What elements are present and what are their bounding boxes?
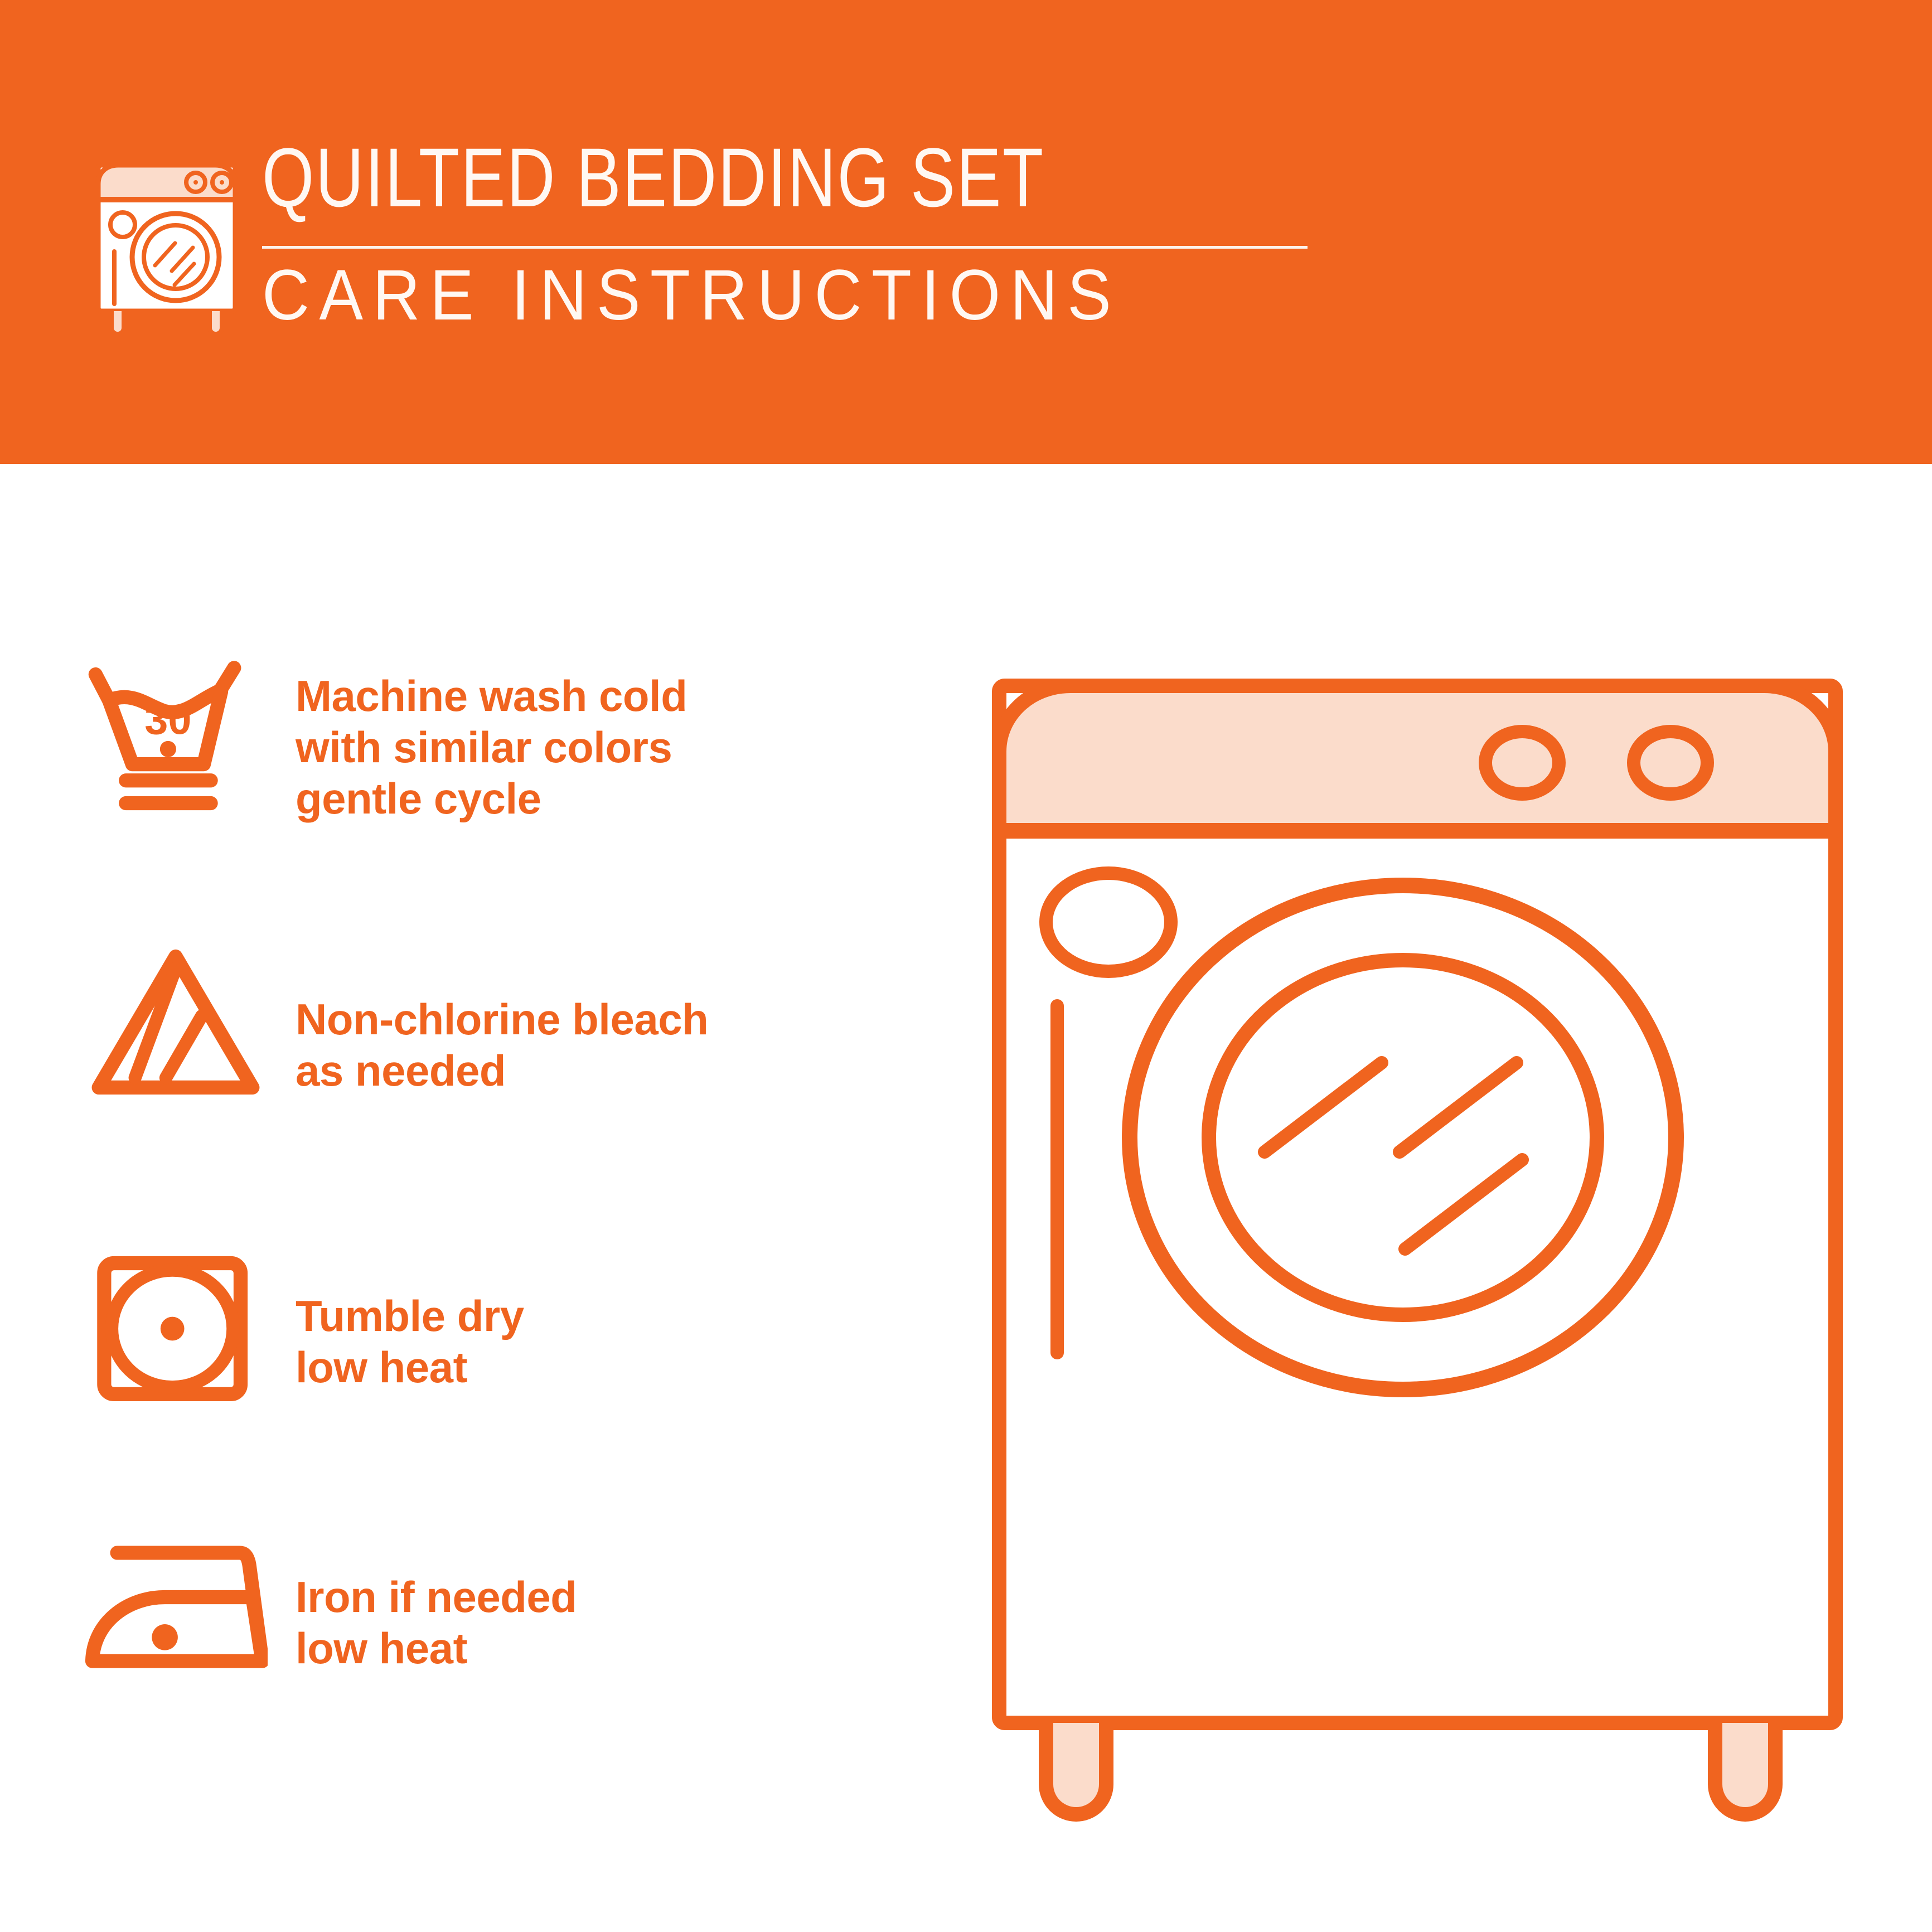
care-item-iron: Iron if needed low heat — [84, 1531, 577, 1683]
washing-machine-illustration — [975, 651, 1867, 1833]
care-item-text: Iron if needed low heat — [296, 1531, 577, 1674]
knob-left — [1485, 732, 1559, 794]
leg-right — [1715, 1723, 1775, 1814]
bleach-triangle-stripes-icon — [84, 940, 296, 1103]
page-subtitle: CARE INSTRUCTIONS — [262, 259, 1121, 332]
drum-inner-ring — [1209, 960, 1597, 1315]
care-item-bleach: Non-chlorine bleach as needed — [84, 940, 708, 1103]
header-banner: QUILTED BEDDING SET CARE INSTRUCTIONS — [0, 0, 1932, 464]
care-item-text: Tumble dry low heat — [296, 1247, 524, 1393]
wash-tub-30-icon: 30 — [84, 658, 296, 821]
washing-machine-icon — [94, 144, 240, 336]
care-item-machine-wash: 30 Machine wash cold with similar colors… — [84, 658, 687, 824]
iron-one-dot-icon — [84, 1531, 296, 1683]
care-item-text: Non-chlorine bleach as needed — [296, 940, 708, 1096]
care-item-text: Machine wash cold with similar colors ge… — [296, 658, 687, 824]
knob-right — [1634, 732, 1707, 794]
wash-temp-label: 30 — [144, 696, 191, 743]
page-title: QUILTED BEDDING SET — [262, 135, 1110, 220]
header-title-group: QUILTED BEDDING SET — [262, 135, 1321, 220]
title-divider — [262, 246, 1308, 249]
tumble-dry-square-circle-dot-icon — [84, 1247, 296, 1410]
care-item-tumble-dry: Tumble dry low heat — [84, 1247, 524, 1410]
small-dial — [1046, 873, 1171, 971]
leg-left — [1046, 1723, 1106, 1814]
